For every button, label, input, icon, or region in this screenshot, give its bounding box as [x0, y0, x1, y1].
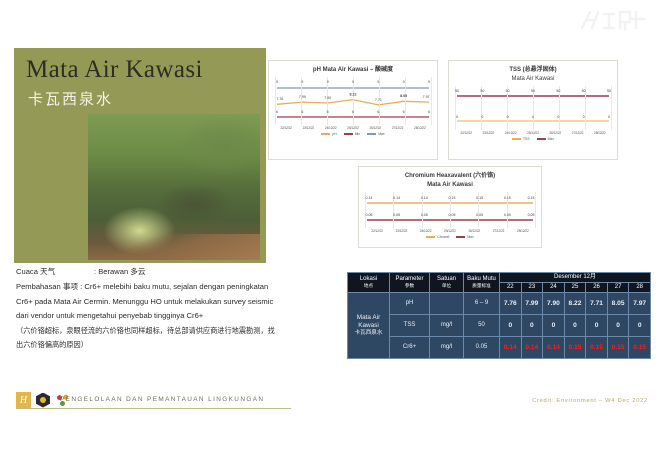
cell-value: 0: [521, 314, 543, 336]
table-row: Cr6+ mg/l 0.05 0.14 0.14 0.14 0.15 0.15 …: [348, 336, 651, 358]
discussion-text-1: Cr6+ melebihi baku mutu, sejalan dengan …: [84, 282, 268, 291]
cell-value: 7.76: [500, 292, 522, 314]
chart-ph-title: pH Mata Air Kawasi – 酸碱度: [269, 66, 437, 74]
cell-value-alert: 0.14: [500, 336, 522, 358]
cell-baku: 50: [464, 314, 500, 336]
chart-ph-legend: pH Min Max: [269, 132, 437, 136]
cell-value-alert: 0.14: [543, 336, 565, 358]
svg-text:6: 6: [403, 110, 405, 114]
weather-value: : Berawan 多云: [94, 267, 146, 276]
header-satuan: Satuan单位: [430, 273, 464, 293]
svg-text:9: 9: [276, 80, 278, 84]
chart-ph-xaxis: 22/12/22 23/12/22 24/12/22 25/12/22 26/1…: [275, 126, 431, 130]
discussion-line-3: dari vendor untuk mengetahui penyebab ti…: [16, 309, 341, 324]
chart-tss-legend: TSS Max: [449, 137, 617, 141]
svg-text:9: 9: [403, 80, 405, 84]
svg-text:6: 6: [352, 110, 354, 114]
svg-text:0.14: 0.14: [421, 196, 428, 200]
svg-text:9: 9: [428, 80, 430, 84]
svg-text:0.14: 0.14: [366, 196, 373, 200]
hexagon-logo-icon: [36, 393, 50, 408]
svg-text:0: 0: [456, 115, 458, 119]
svg-text:0.05: 0.05: [449, 213, 456, 217]
header-day: 28: [629, 282, 651, 292]
svg-text:9: 9: [352, 80, 354, 84]
table-row: TSS mg/l 50 0 0 0 0 0 0 0: [348, 314, 651, 336]
legend-item-min: Min: [344, 132, 360, 136]
cell-satuan: mg/l: [430, 314, 464, 336]
svg-text:0.15: 0.15: [504, 196, 511, 200]
discussion-zh-2: 出六价铬偏高的原因）: [16, 338, 341, 352]
footer-credit: Credit: Environment – W4 Dec 2022: [532, 398, 648, 404]
svg-text:0.05: 0.05: [504, 213, 511, 217]
legend-item-tss: TSS: [512, 137, 530, 141]
svg-text:50: 50: [556, 89, 560, 93]
header-parameter: Parameter参数: [390, 273, 430, 293]
cell-value-alert: 0.15: [629, 336, 651, 358]
svg-text:0: 0: [608, 115, 610, 119]
svg-text:50: 50: [582, 89, 586, 93]
svg-text:0: 0: [481, 115, 483, 119]
svg-text:0: 0: [557, 115, 559, 119]
cell-value: 0: [629, 314, 651, 336]
chart-chromium-plot: 0.140.14 0.140.15 0.150.15 0.15 0.050.05…: [365, 192, 535, 228]
cell-parameter: Cr6+: [390, 336, 430, 358]
legend-item-max: Max: [456, 235, 473, 239]
header-day: 22: [500, 282, 522, 292]
weather-row: Cuaca 天气: Berawan 多云: [16, 265, 341, 280]
page-title-zh: 卡瓦西泉水: [28, 88, 113, 109]
cell-location: Mata Air Kawasi卡瓦西泉水: [348, 292, 390, 358]
svg-text:50: 50: [607, 89, 611, 93]
cell-baku: 0.05: [464, 336, 500, 358]
chart-tss-title: TSS (总悬浮固体): [449, 66, 617, 74]
svg-text:7.99: 7.99: [299, 95, 306, 99]
cell-value: 7.90: [543, 292, 565, 314]
svg-text:0: 0: [583, 115, 585, 119]
title-panel: Mata Air Kawasi 卡瓦西泉水: [14, 48, 266, 263]
header-day: 25: [564, 282, 586, 292]
header-baku-mutu: Baku Mutu质量标准: [464, 273, 500, 293]
discussion-zh-1: （六价铬超标，泉眼径流的六价铬也同样超标，待总部请供应商进行地震勘测，找: [16, 324, 341, 338]
svg-text:6: 6: [327, 110, 329, 114]
svg-text:0.05: 0.05: [421, 213, 428, 217]
header-day: 24: [543, 282, 565, 292]
legend-item-max: Max: [537, 137, 554, 141]
svg-text:6: 6: [377, 110, 379, 114]
cell-parameter: TSS: [390, 314, 430, 336]
svg-text:0: 0: [532, 115, 534, 119]
table-header-row: Lokasi地点 Parameter参数 Satuan单位 Baku Mutu质…: [348, 273, 651, 283]
cell-satuan: [430, 292, 464, 314]
legend-item-chrom6: Chrom6: [426, 235, 449, 239]
svg-text:0.15: 0.15: [528, 196, 535, 200]
brand-watermark-icon: [578, 6, 648, 36]
chart-tss-subtitle: Mata Air Kawasi: [449, 75, 617, 83]
cell-value: 7.97: [629, 292, 651, 314]
chart-ph-plot: 99 99 99 9 7.767.99 7.908.22 7.718.05 7.…: [275, 77, 431, 125]
discussion-line-2: Cr6+ pada Mata Air Cermin. Menunggu HO u…: [16, 295, 341, 310]
cell-value-alert: 0.15: [607, 336, 629, 358]
footer-divider: [16, 408, 291, 409]
measurement-table: Lokasi地点 Parameter参数 Satuan单位 Baku Mutu质…: [347, 272, 651, 359]
chart-tss: TSS (总悬浮固体) Mata Air Kawasi 5050 5050 50…: [448, 60, 618, 160]
svg-text:0.05: 0.05: [393, 213, 400, 217]
svg-text:0.05: 0.05: [366, 213, 373, 217]
cell-value: 7.71: [586, 292, 608, 314]
header-lokasi: Lokasi地点: [348, 273, 390, 293]
harita-logo-icon: H: [16, 392, 31, 408]
chart-chromium-title: Chromium Heaxavalent (六价铬): [359, 172, 541, 180]
svg-text:7.71: 7.71: [375, 98, 382, 102]
chart-tss-plot: 5050 5050 5050 50 00 00 00 0: [455, 86, 611, 130]
chart-ph-labels: 99 99 99 9 7.767.99 7.908.22 7.718.05 7.…: [275, 77, 431, 125]
svg-text:0.15: 0.15: [449, 196, 456, 200]
cell-value-alert: 0.14: [521, 336, 543, 358]
discussion-line-1: Pembahasan 事项 : Cr6+ melebihi baku mutu,…: [16, 280, 341, 295]
chart-tss-xaxis: 22/12/22 23/12/22 24/12/22 25/12/22 26/1…: [455, 131, 611, 135]
cell-value: 0: [607, 314, 629, 336]
svg-text:9: 9: [327, 80, 329, 84]
spring-photo: [88, 114, 260, 260]
svg-text:6: 6: [428, 110, 430, 114]
chart-chromium-subtitle: Mata Air Kawasi: [359, 181, 541, 189]
chart-chromium-xaxis: 22/12/22 23/12/22 24/12/22 25/12/22 26/1…: [365, 229, 535, 233]
chart-ph: pH Mata Air Kawasi – 酸碱度 99 99 99 9 7.76…: [268, 60, 438, 160]
svg-text:9: 9: [377, 80, 379, 84]
cell-satuan: mg/l: [430, 336, 464, 358]
cell-parameter: pH: [390, 292, 430, 314]
chart-tss-labels: 5050 5050 5050 50 00 00 00 0: [455, 86, 611, 130]
svg-text:50: 50: [480, 89, 484, 93]
cell-value: 0: [500, 314, 522, 336]
cell-value: 7.99: [521, 292, 543, 314]
footer-label: PENGELOLAAN DAN PEMANTAUAN LINGKUNGAN: [60, 396, 264, 403]
cell-value: 0: [564, 314, 586, 336]
cell-baku: 6 – 9: [464, 292, 500, 314]
svg-text:0: 0: [507, 115, 509, 119]
header-day: 23: [521, 282, 543, 292]
svg-text:0.14: 0.14: [393, 196, 400, 200]
legend-item-max: Max: [367, 132, 384, 136]
cell-value-alert: 0.15: [586, 336, 608, 358]
svg-text:6: 6: [276, 110, 278, 114]
header-day: 26: [586, 282, 608, 292]
weather-label: Cuaca 天气: [16, 265, 94, 280]
svg-text:6: 6: [301, 110, 303, 114]
chart-chromium: Chromium Heaxavalent (六价铬) Mata Air Kawa…: [358, 166, 542, 248]
table-row: Mata Air Kawasi卡瓦西泉水 pH 6 – 9 7.76 7.99 …: [348, 292, 651, 314]
cell-value-alert: 0.15: [564, 336, 586, 358]
cell-value: 8.05: [607, 292, 629, 314]
svg-text:50: 50: [531, 89, 535, 93]
header-day: 27: [607, 282, 629, 292]
page-title: Mata Air Kawasi: [26, 56, 203, 84]
svg-text:8.05: 8.05: [400, 94, 407, 98]
svg-text:9: 9: [301, 80, 303, 84]
svg-text:50: 50: [506, 89, 510, 93]
chart-chromium-labels: 0.140.14 0.140.15 0.150.15 0.15 0.050.05…: [365, 192, 535, 228]
svg-text:0.05: 0.05: [476, 213, 483, 217]
svg-text:7.97: 7.97: [423, 95, 430, 99]
header-month: Desember 12月: [500, 273, 651, 283]
svg-text:7.76: 7.76: [276, 97, 283, 101]
svg-text:0.15: 0.15: [476, 196, 483, 200]
svg-text:7.90: 7.90: [324, 96, 331, 100]
chart-chromium-legend: Chrom6 Max: [359, 235, 541, 239]
cell-value: 0: [586, 314, 608, 336]
svg-text:50: 50: [455, 89, 459, 93]
cell-value: 8.22: [564, 292, 586, 314]
legend-item-ph: pH: [321, 132, 336, 136]
svg-text:0.05: 0.05: [528, 213, 535, 217]
cell-value: 0: [543, 314, 565, 336]
svg-text:8.22: 8.22: [350, 93, 357, 97]
discussion-text: Cuaca 天气: Berawan 多云 Pembahasan 事项 : Cr6…: [16, 265, 341, 352]
discussion-label: Pembahasan 事项 :: [16, 282, 82, 291]
